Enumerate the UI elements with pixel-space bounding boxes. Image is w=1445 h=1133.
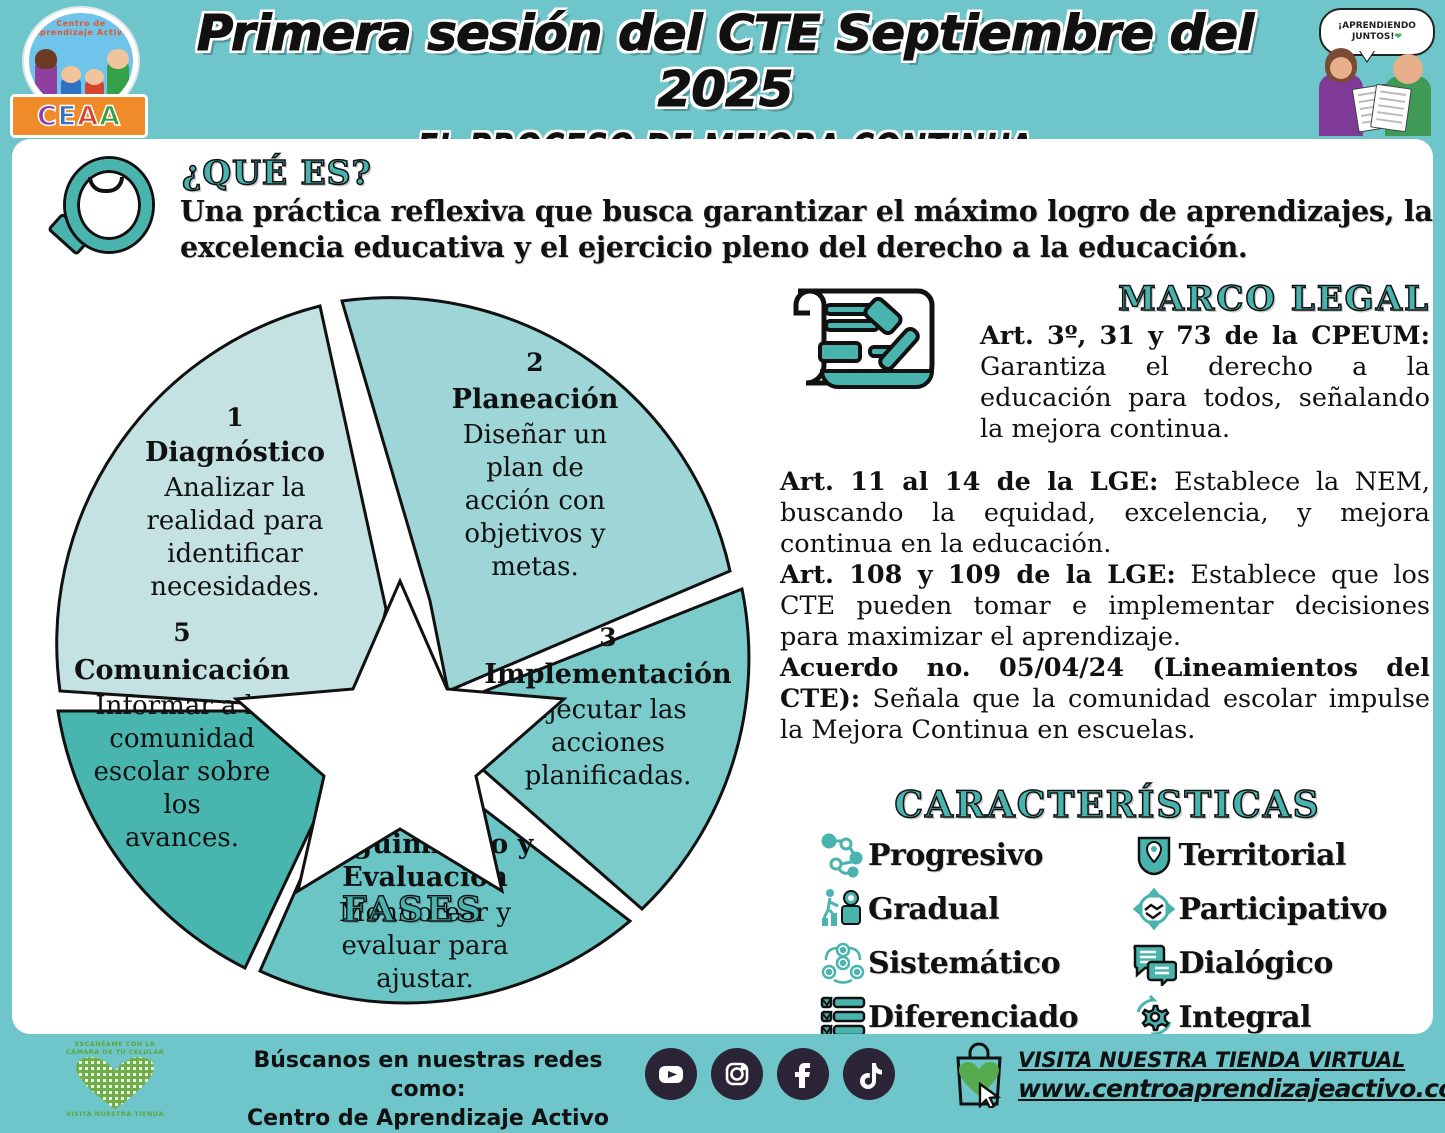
- scroll-gavel-icon: [780, 283, 975, 398]
- caracteristica-sistematico[interactable]: Sistemático: [820, 940, 1125, 986]
- caracteristica-dialogico-label: Dialógico: [1179, 946, 1333, 981]
- fases-label: FASES: [318, 889, 508, 930]
- page-title: Primera sesión del CTE Septiembre del 20…: [139, 6, 1312, 118]
- segment-3-desc-3: planificadas.: [525, 761, 692, 791]
- segment-5-number: 5: [173, 618, 190, 647]
- caracteristica-participativo-label: Participativo: [1179, 892, 1388, 927]
- logo-letter-e: E: [58, 101, 77, 132]
- teacher-figures: [1311, 54, 1439, 136]
- redes-line-2: Centro de Aprendizaje Activo: [228, 1104, 628, 1133]
- gears-cycle-icon: [820, 940, 866, 986]
- qr-heart-icon: [76, 1057, 154, 1109]
- logo-letter-a1: A: [77, 101, 99, 132]
- caracteristica-participativo[interactable]: Participativo: [1131, 886, 1436, 932]
- segment-5-desc-4: los: [163, 790, 200, 820]
- chat-bubbles-icon: [1131, 940, 1177, 986]
- redes-text: Búscanos en nuestras redes como: Centro …: [228, 1046, 628, 1133]
- youtube-icon[interactable]: [645, 1048, 697, 1100]
- que-es-section: ¿QUÉ ES? Una práctica reflexiva que busc…: [30, 145, 1420, 270]
- bubble-line-1: ¡APRENDIENDO: [1338, 21, 1416, 31]
- infographic-page: Centro de Aprendizaje Activo C E A A Pri…: [0, 0, 1445, 1117]
- marco-entry-2-label: Art. 11 al 14 de la LGE:: [780, 467, 1158, 497]
- redes-line-1: Búscanos en nuestras redes como:: [228, 1046, 628, 1104]
- ceaa-logo: Centro de Aprendizaje Activo C E A A: [6, 2, 146, 132]
- teachers-illustration: ¡APRENDIENDO JUNTOS!❤: [1311, 4, 1439, 136]
- caracteristica-territorial[interactable]: Territorial: [1131, 832, 1436, 878]
- document-sheet-right: [1370, 84, 1412, 133]
- store-line-2: www.centroaprendizajeactivo.com: [1018, 1074, 1445, 1103]
- logo-figure-girl-head: [85, 69, 104, 85]
- segment-2-title: Planeación: [452, 384, 619, 415]
- fases-wheel: 1 Diagnóstico Analizar la realidad para …: [30, 271, 770, 1021]
- logo-figure-boy-head: [61, 66, 81, 83]
- instagram-icon[interactable]: [711, 1048, 763, 1100]
- marco-entry-4-text: Señala que la comunidad escolar impulse …: [780, 684, 1430, 745]
- segment-3-number: 3: [599, 623, 616, 652]
- segment-5-desc-3: escolar sobre: [94, 757, 271, 787]
- caracteristicas-heading: CARACTERÍSTICAS: [780, 784, 1435, 826]
- segment-3-desc-2: acciones: [551, 728, 665, 758]
- marco-legal-entry-4: Acuerdo no. 05/04/24 (Lineamientos del C…: [780, 653, 1430, 746]
- segment-1-desc-4: necesidades.: [150, 572, 320, 602]
- caracteristica-progresivo[interactable]: Progresivo: [820, 832, 1125, 878]
- logo-letter-c: C: [37, 101, 58, 132]
- logo-arc-text: Centro de Aprendizaje Activo: [29, 19, 133, 37]
- caracteristica-integral-label: Integral: [1179, 1000, 1311, 1035]
- teacher-female-face: [1330, 57, 1352, 79]
- caracteristica-sistematico-label: Sistemático: [868, 946, 1060, 981]
- segment-2-desc-4: objetivos y: [464, 519, 605, 549]
- teacher-male-head: [1393, 54, 1423, 84]
- facebook-icon[interactable]: [777, 1048, 829, 1100]
- tiktok-icon[interactable]: [843, 1048, 895, 1100]
- shopping-bag-icon: [950, 1042, 1012, 1108]
- que-es-text: Una práctica reflexiva que busca garanti…: [180, 193, 1445, 265]
- marco-legal-entry-2: Art. 11 al 14 de la LGE: Establece la NE…: [780, 467, 1430, 560]
- marco-entry-1-text: Garantiza el derecho a la educación para…: [980, 352, 1430, 444]
- caracteristica-gradual[interactable]: Gradual: [820, 886, 1125, 932]
- bubble-line-2: JUNTOS!: [1352, 32, 1395, 42]
- social-links: [645, 1048, 895, 1100]
- segment-2-number: 2: [526, 348, 543, 377]
- store-text: VISITA NUESTRA TIENDA VIRTUAL www.centro…: [1018, 1048, 1445, 1103]
- marco-entry-3-label: Art. 108 y 109 de la LGE:: [780, 560, 1176, 590]
- segment-5-desc-2: comunidad: [109, 724, 254, 754]
- marco-legal-section: MARCO LEGAL Art. 3º, 31 y 73 de la CPEUM…: [780, 279, 1430, 769]
- caracteristicas-grid: Progresivo Territorial: [780, 832, 1435, 1040]
- marco-entry-1-label: Art. 3º, 31 y 73 de la CPEUM:: [980, 321, 1430, 351]
- que-es-heading: ¿QUÉ ES?: [182, 153, 372, 192]
- logo-banner: C E A A: [10, 94, 148, 138]
- marco-legal-entries-rest: Art. 11 al 14 de la LGE: Establece la NE…: [780, 467, 1430, 746]
- store-line-1: VISITA NUESTRA TIENDA VIRTUAL: [1018, 1048, 1445, 1072]
- segment-2-desc-2: plan de: [486, 453, 584, 483]
- segment-1-title: Diagnóstico: [145, 437, 325, 468]
- segment-1-desc-3: identificar: [167, 539, 303, 569]
- store-link-block[interactable]: VISITA NUESTRA TIENDA VIRTUAL www.centro…: [950, 1042, 1445, 1108]
- segment-1-number: 1: [226, 403, 243, 432]
- segment-1-desc-1: Analizar la: [163, 473, 305, 503]
- segment-5-desc-5: avances.: [125, 823, 239, 853]
- person-steps-gear-icon: [820, 886, 866, 932]
- location-pin-icon: [1131, 832, 1177, 878]
- caracteristica-progresivo-label: Progresivo: [868, 838, 1043, 873]
- caracteristica-territorial-label: Territorial: [1179, 838, 1346, 873]
- caracteristica-dialogico[interactable]: Dialógico: [1131, 940, 1436, 986]
- main-content-card: ¿QUÉ ES? Una práctica reflexiva que busc…: [12, 139, 1433, 1034]
- qr-code-block[interactable]: ESCANÉAME CON LA CÁMARA DE TU CELULAR VI…: [60, 1040, 170, 1112]
- handshake-circle-icon: [1131, 886, 1177, 932]
- logo-figure-father-head: [107, 49, 129, 69]
- segment-2-desc-5: metas.: [491, 552, 579, 582]
- qr-top-label: ESCANÉAME CON LA CÁMARA DE TU CELULAR: [60, 1040, 170, 1056]
- logo-letter-a2: A: [99, 101, 121, 132]
- caracteristica-diferenciado-label: Diferenciado: [868, 1000, 1078, 1035]
- segment-5-title: Comunicación: [74, 655, 290, 686]
- segment-4-desc-2: evaluar para: [342, 931, 509, 961]
- page-header: Centro de Aprendizaje Activo C E A A Pri…: [0, 0, 1445, 139]
- segment-4-desc-3: ajustar.: [376, 964, 473, 994]
- segment-2-desc-3: acción con: [465, 486, 606, 516]
- heart-icon: ❤: [1395, 32, 1403, 42]
- magnifier-ring: [66, 159, 152, 251]
- marco-legal-heading: MARCO LEGAL: [980, 279, 1430, 319]
- caracteristica-gradual-label: Gradual: [868, 892, 999, 927]
- segment-1-desc-2: realidad para: [146, 506, 323, 536]
- magnifier-icon: [48, 157, 168, 269]
- logo-figure-mother-head: [35, 49, 57, 69]
- marco-legal-entry-1: Art. 3º, 31 y 73 de la CPEUM: Garantiza …: [980, 321, 1430, 445]
- caracteristicas-section: CARACTERÍSTICAS Progresivo: [780, 784, 1435, 1024]
- segment-3-title: Implementación: [484, 659, 732, 690]
- marco-legal-entry-3: Art. 108 y 109 de la LGE: Establece que …: [780, 560, 1430, 653]
- page-footer: ESCANÉAME CON LA CÁMARA DE TU CELULAR VI…: [0, 1034, 1445, 1117]
- segment-2-desc-1: Diseñar un: [463, 420, 608, 450]
- network-nodes-icon: [820, 832, 866, 878]
